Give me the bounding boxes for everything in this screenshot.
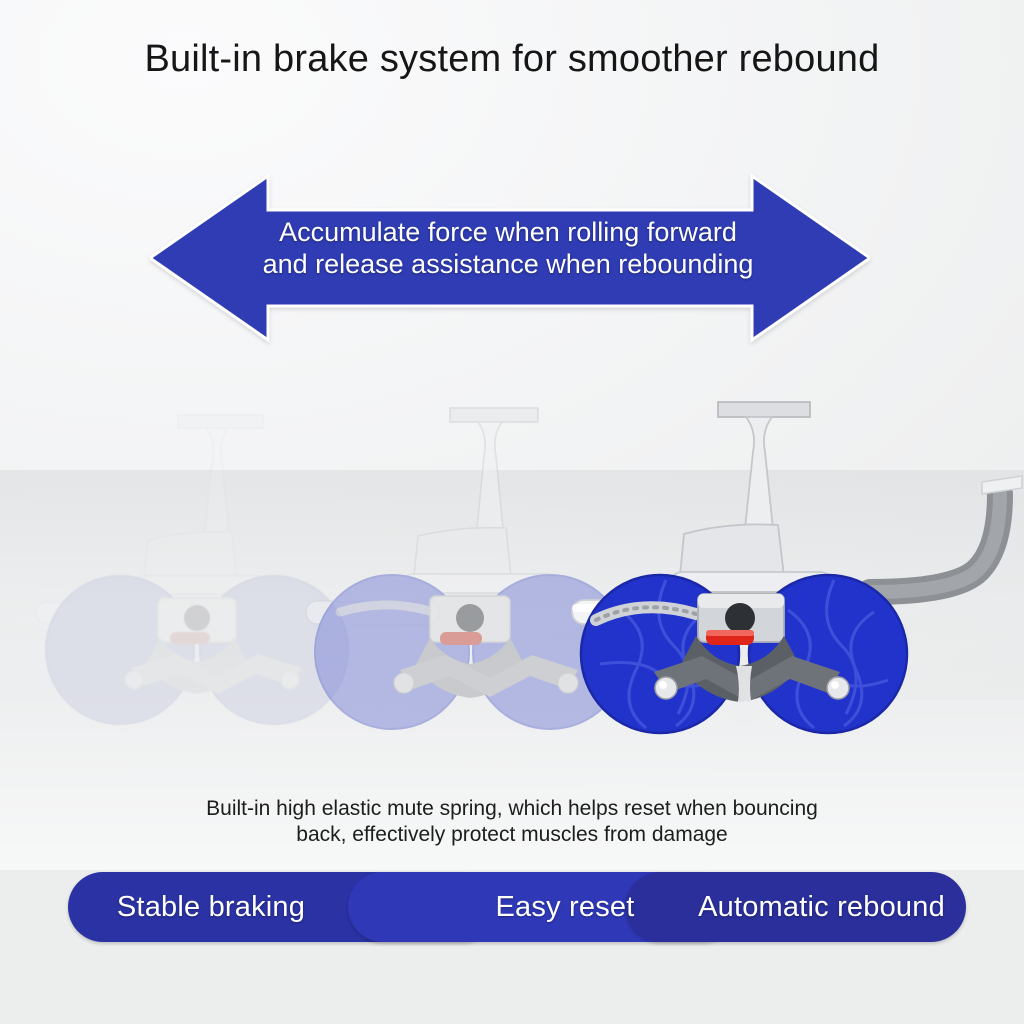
page-title: Built-in brake system for smoother rebou…: [0, 38, 1024, 81]
caption-line-2: back, effectively protect muscles from d…: [0, 822, 1024, 848]
feature-pill-bar: Stable braking Easy reset Automatic rebo…: [68, 872, 966, 942]
product-motion-sequence: [0, 380, 1024, 770]
feature-pill-label: Easy reset: [496, 891, 635, 924]
feature-pill-label: Stable braking: [117, 891, 305, 924]
caption-line-1: Built-in high elastic mute spring, which…: [0, 796, 1024, 822]
double-headed-arrow-icon: [150, 168, 870, 348]
product-caption: Built-in high elastic mute spring, which…: [0, 796, 1024, 848]
arrow-banner: Accumulate force when rolling forward an…: [150, 168, 870, 348]
infographic-canvas: Built-in brake system for smoother rebou…: [0, 0, 1024, 1024]
feature-pill-automatic-rebound[interactable]: Automatic rebound: [625, 872, 966, 942]
feature-pill-label: Automatic rebound: [698, 891, 945, 924]
ab-roller-solid: [570, 380, 1000, 770]
